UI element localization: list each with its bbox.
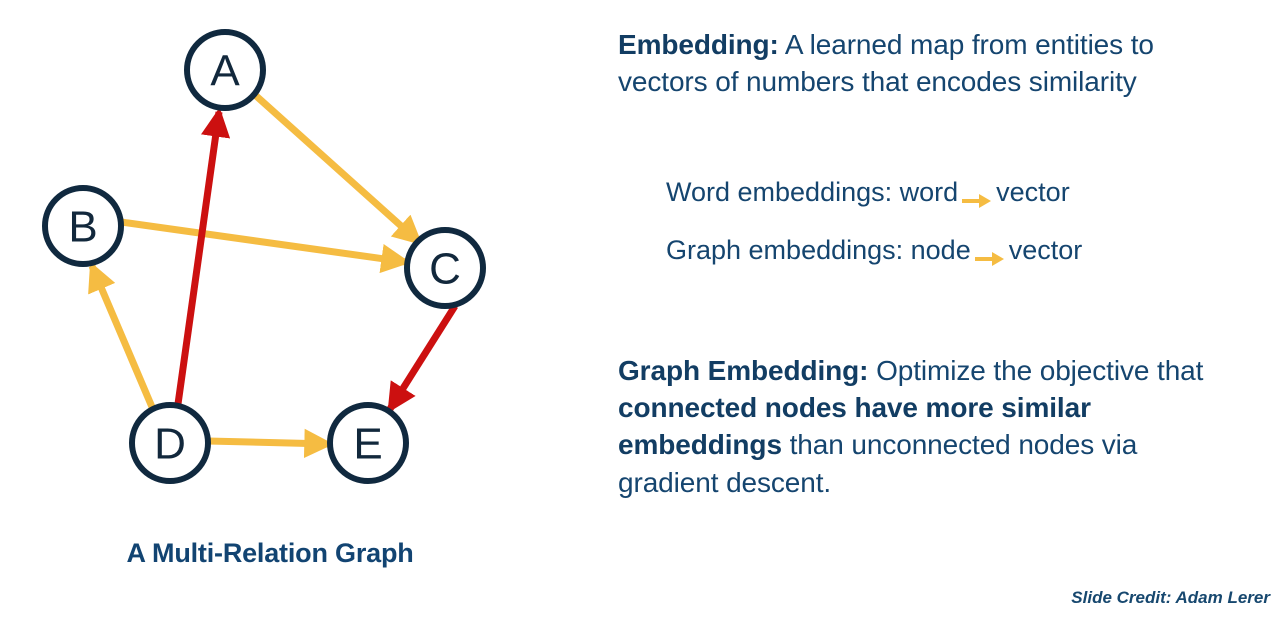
right-arrow-icon	[975, 242, 1005, 258]
edge-D-to-A	[178, 112, 219, 404]
embedding-definition-paragraph: Embedding: A learned map from entities t…	[618, 26, 1230, 100]
node-label-A: A	[210, 47, 240, 96]
edge-D-to-B	[92, 266, 152, 407]
edge-B-to-C	[121, 222, 406, 262]
edge-D-to-E	[208, 441, 329, 444]
edge-C-to-E	[390, 306, 455, 409]
graph-node-A[interactable]: A	[187, 32, 263, 108]
node-label-E: E	[353, 420, 382, 469]
graph-node-C[interactable]: C	[407, 230, 483, 306]
node-label-C: C	[429, 245, 461, 294]
bullet-text-suffix: vector	[996, 177, 1070, 207]
graph-node-D[interactable]: D	[132, 405, 208, 481]
node-label-D: D	[154, 420, 186, 469]
slide-root: A B C D E A Multi-Relation Graph	[0, 0, 1280, 629]
bullet-text-prefix: Graph embeddings: node	[666, 235, 971, 265]
text-pane: Embedding: A learned map from entities t…	[618, 0, 1280, 629]
graph-embedding-part1: Optimize the objective that	[868, 355, 1203, 386]
figure-caption: A Multi-Relation Graph	[0, 538, 540, 569]
slide-credit: Slide Credit: Adam Lerer	[1071, 588, 1270, 608]
multi-relation-graph-svg: A B C D E	[0, 0, 600, 520]
node-label-B: B	[68, 203, 97, 252]
graph-embedding-paragraph: Graph Embedding: Optimize the objective …	[618, 352, 1230, 501]
graph-embedding-term: Graph Embedding:	[618, 355, 868, 386]
bullet-text-prefix: Word embeddings: word	[666, 177, 958, 207]
right-arrow-icon	[962, 184, 992, 200]
graph-edges	[92, 94, 455, 444]
bullet-text-suffix: vector	[1009, 235, 1083, 265]
edge-A-to-C	[254, 94, 419, 242]
list-item: Graph embeddings: node vector	[618, 234, 1238, 268]
graph-node-E[interactable]: E	[330, 405, 406, 481]
graph-figure-pane: A B C D E A Multi-Relation Graph	[0, 0, 600, 629]
embedding-term: Embedding:	[618, 29, 779, 60]
hexagon-bullet-icon	[628, 183, 649, 205]
embedding-examples-list: Word embeddings: word vector Graph embed…	[618, 176, 1238, 292]
graph-node-B[interactable]: B	[45, 188, 121, 264]
list-item: Word embeddings: word vector	[618, 176, 1238, 210]
hexagon-bullet-icon	[628, 241, 649, 263]
